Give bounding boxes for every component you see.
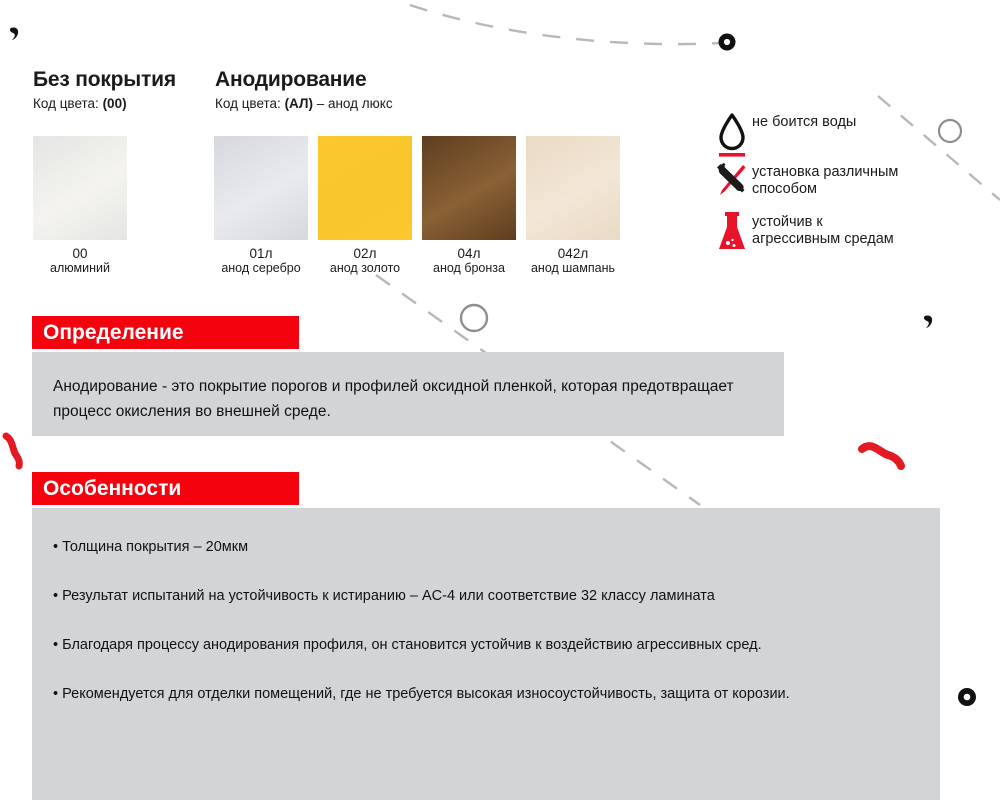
property-label-chemical: устойчив кагрессивным средам: [752, 212, 894, 248]
swatch-chip-042l: [526, 136, 620, 240]
property-row-water: не боится воды: [712, 112, 982, 160]
property-row-install: установка различнымспособом: [712, 162, 982, 198]
definition-tab[interactable]: Определение: [32, 316, 299, 349]
definition-panel: Анодирование - это покрытие порогов и пр…: [32, 352, 784, 436]
swatch-02l[interactable]: [318, 136, 412, 240]
feature-item: • Толщина покрытия – 20мкм: [53, 534, 918, 561]
swatch-code-01l: 01л: [204, 246, 318, 261]
anodizing-code-suffix: – анод люкс: [313, 96, 393, 111]
swatch-042l[interactable]: [526, 136, 620, 240]
property-label-install-l1: установка различным: [752, 164, 898, 180]
swatch-name-00: алюминий: [23, 261, 137, 276]
swatch-code-04l: 04л: [412, 246, 526, 261]
swatch-label-00: 00 алюминий: [23, 246, 137, 276]
flask-icon: [712, 212, 752, 254]
comma-mark-top-left: [10, 28, 18, 40]
feature-item: • Результат испытаний на устойчивость к …: [53, 583, 918, 610]
swatch-label-02l: 02л анод золото: [308, 246, 422, 276]
dashed-curve-top: [410, 5, 740, 44]
property-label-chemical-l1: устойчив к: [752, 214, 823, 230]
donut-mark-top-right: [719, 34, 736, 51]
property-row-chemical: устойчив кагрессивным средам: [712, 212, 992, 254]
features-panel: • Толщина покрытия – 20мкм • Результат и…: [32, 508, 940, 800]
definition-text: Анодирование - это покрытие порогов и пр…: [53, 378, 734, 420]
uncoated-code-prefix: Код цвета:: [33, 96, 103, 111]
swatch-01l[interactable]: [214, 136, 308, 240]
red-squiggle-right: [862, 446, 901, 466]
swatch-04l[interactable]: [422, 136, 516, 240]
property-label-chemical-l2: агрессивным средам: [752, 231, 894, 247]
swatch-00[interactable]: [33, 136, 127, 240]
swatch-chip-04l: [422, 136, 516, 240]
swatch-code-00: 00: [23, 246, 137, 261]
swatch-code-02l: 02л: [308, 246, 422, 261]
swatch-label-042l: 042л анод шампань: [516, 246, 630, 276]
anodizing-code-prefix: Код цвета:: [215, 96, 285, 111]
feature-item: • Благодаря процессу анодирования профил…: [53, 632, 918, 659]
anodizing-code-value: (АЛ): [285, 96, 313, 111]
water-drop-icon: [712, 112, 752, 160]
property-label-install-l2: способом: [752, 181, 817, 197]
comma-mark-right: [924, 316, 932, 328]
features-tab[interactable]: Особенности: [32, 472, 299, 505]
swatch-name-042l: анод шампань: [516, 261, 630, 276]
swatch-chip-01l: [214, 136, 308, 240]
property-label-install: установка различнымспособом: [752, 162, 898, 198]
swatch-name-01l: анод серебро: [204, 261, 318, 276]
column-heading-uncoated: Без покрытия: [33, 68, 176, 92]
swatch-label-04l: 04л анод бронза: [412, 246, 526, 276]
wrench-screwdriver-icon: [712, 162, 752, 198]
column-heading-anodizing: Анодирование: [215, 68, 366, 92]
swatch-name-04l: анод бронза: [412, 261, 526, 276]
swatch-chip-02l: [318, 136, 412, 240]
property-label-water: не боится воды: [752, 112, 856, 131]
swatch-chip-00: [33, 136, 127, 240]
swatch-name-02l: анод золото: [308, 261, 422, 276]
column-subtitle-anodizing: Код цвета: (АЛ) – анод люкс: [215, 96, 393, 111]
infographic-page: Без покрытия Код цвета: (00) Анодировани…: [0, 0, 1000, 800]
donut-mark-bottom-right: [958, 688, 976, 706]
swatch-label-01l: 01л анод серебро: [204, 246, 318, 276]
swatch-code-042l: 042л: [516, 246, 630, 261]
red-squiggle-left: [6, 436, 19, 466]
column-subtitle-uncoated: Код цвета: (00): [33, 96, 127, 111]
uncoated-code-value: (00): [103, 96, 127, 111]
feature-item: • Рекомендуется для отделки помещений, г…: [53, 681, 918, 708]
ring-middle: [461, 305, 487, 331]
